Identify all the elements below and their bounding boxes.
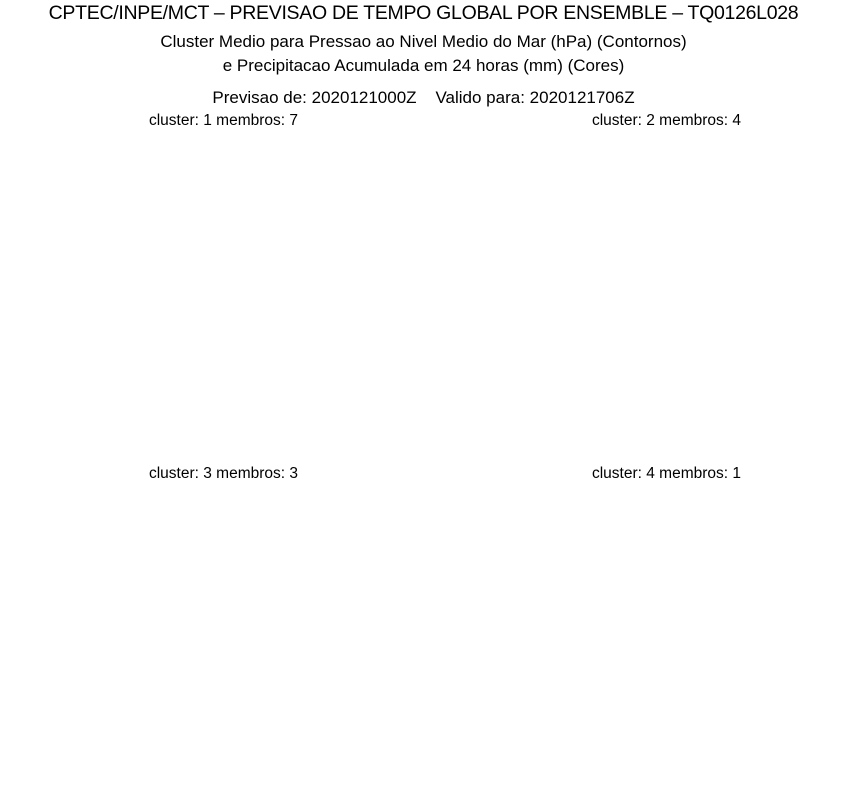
panel-title-cluster-1: cluster: 1 membros: 7 bbox=[57, 112, 390, 130]
run-label: Previsao de: bbox=[212, 88, 307, 107]
subtitle-line-1: Cluster Medio para Pressao ao Nivel Medi… bbox=[0, 32, 847, 52]
valid-label: Valido para: bbox=[435, 88, 524, 107]
run-value: 2020121000Z bbox=[312, 88, 417, 107]
subtitle-line-2: e Precipitacao Acumulada em 24 horas (mm… bbox=[0, 56, 847, 76]
page-title: CPTEC/INPE/MCT – PREVISAO DE TEMPO GLOBA… bbox=[0, 2, 847, 25]
valid-value: 2020121706Z bbox=[530, 88, 635, 107]
panel-title-cluster-4: cluster: 4 membros: 1 bbox=[500, 465, 833, 483]
panel-title-cluster-2: cluster: 2 membros: 4 bbox=[500, 112, 833, 130]
panel-title-cluster-3: cluster: 3 membros: 3 bbox=[57, 465, 390, 483]
forecast-run-line: Previsao de: 2020121000Z Valido para: 20… bbox=[0, 88, 847, 108]
